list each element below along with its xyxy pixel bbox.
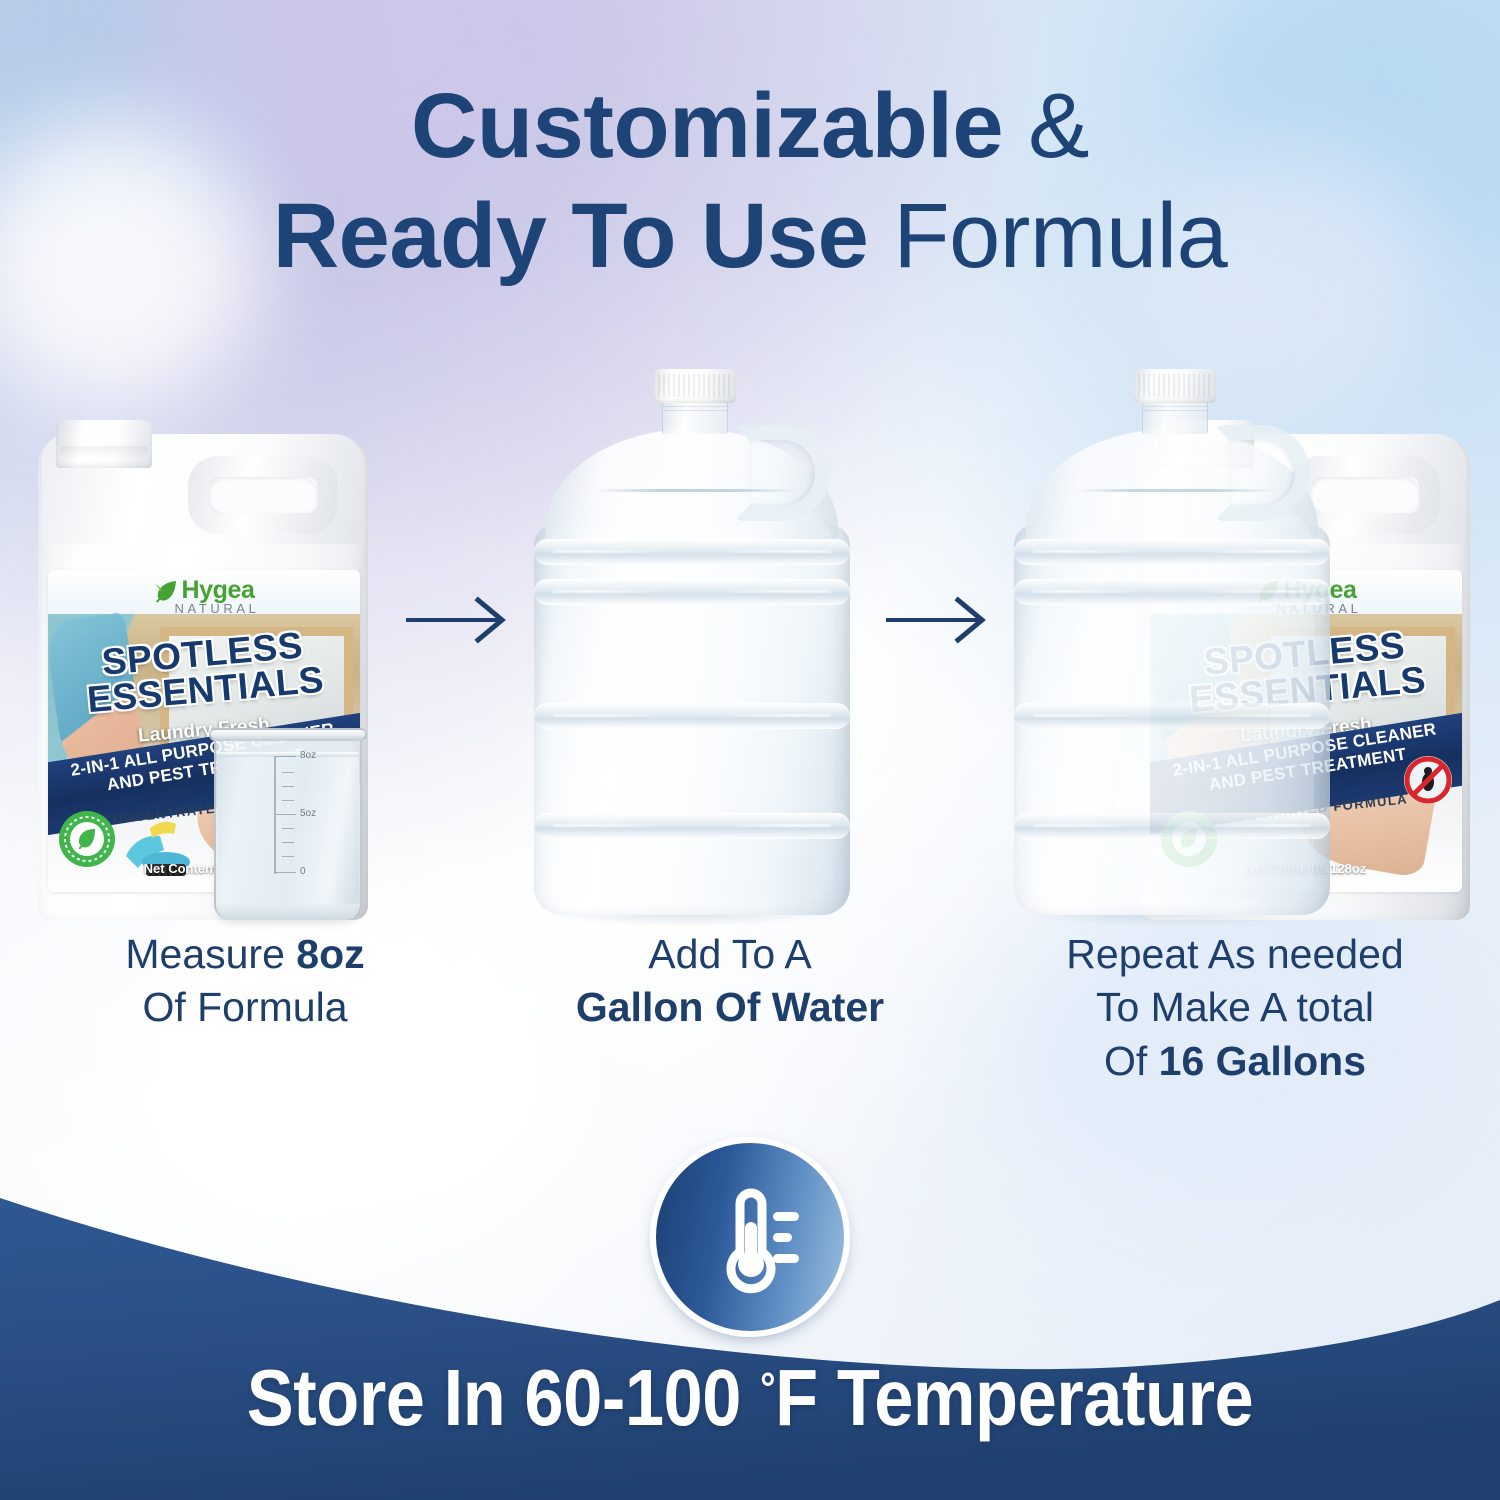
caption3-line2: To Make A total [970,981,1500,1034]
headline-line1-light: & [1003,75,1089,177]
step-captions-row: Measure 8oz Of Formula Add To A Gallon O… [0,928,1500,1088]
product-infographic: Customizable & Ready To Use Formula [0,0,1500,1500]
caption1-line1-strong: 8oz [296,931,364,977]
caption2-line1: Add To A [490,928,970,981]
banner-text-part1: Store In [247,1353,525,1442]
step-repeat-visual: Hygea NATURAL SPOTLESS ESSENTIALS Laundr… [1000,370,1470,930]
banner-text-fahrenheit: F [775,1353,818,1442]
beaker-mark-0: 0 [300,866,306,877]
caption-step-repeat: Repeat As needed To Make A total Of 16 G… [970,928,1500,1088]
jug-rib [1014,579,1330,605]
banner-text: Store In 60-100 °F Temperature [90,1352,1410,1444]
caption1-line1-light: Measure [125,931,296,977]
jug-neck [1142,400,1208,434]
jug-rib [534,579,850,605]
measuring-beaker: 8oz 5oz 0 [214,730,362,920]
caption-step-measure: Measure 8oz Of Formula [0,928,490,1088]
brand-lockup: Hygea NATURAL [48,576,360,616]
caption1-line2: Of Formula [0,981,490,1034]
caption3-line3-strong: 16 Gallons [1159,1038,1366,1084]
headline-line1-strong: Customizable [411,75,1003,177]
banner-text-range: 60-100 [524,1353,760,1442]
thermometer-icon [691,1178,809,1296]
no-bug-icon [1400,752,1456,808]
water-gallon-jug [520,367,860,922]
step-arrow-1 [400,340,520,900]
jug-handle [1214,425,1310,521]
jug-rib [534,703,850,729]
arrow-right-icon [404,598,516,642]
step-measure-visual: Hygea NATURAL SPOTLESS ESSENTIALS Laundr… [30,370,400,930]
step-add-water-visual [520,370,880,930]
caption3-line3-light: Of [1104,1038,1159,1084]
caption3-line1: Repeat As needed [970,928,1500,981]
jug-rib [1014,703,1330,729]
leaf-icon [153,578,179,604]
headline-line2-light: Formula [868,185,1227,287]
headline-line2-strong: Ready To Use [273,185,869,287]
leaf-badge-icon [58,810,116,868]
beaker-mark-5oz: 5oz [300,808,316,819]
water-gallon-jug-secondary [1000,367,1340,922]
beaker-graduations: 8oz 5oz 0 [214,730,362,920]
jug-rib [534,813,850,839]
jug-rib [1014,539,1330,565]
degree-symbol: ° [760,1364,775,1414]
jug-cap [1134,369,1216,403]
step-arrow-2 [880,340,1000,900]
beaker-mark-8oz: 8oz [300,750,316,761]
caption-step-add-water: Add To A Gallon Of Water [490,928,970,1088]
banner-text-part2: Temperature [818,1353,1254,1442]
caption2-line2-strong: Gallon Of Water [576,984,884,1030]
jug-rib [534,539,850,565]
jug-rib [1014,813,1330,839]
bottle-handle-hole [209,477,317,513]
jug-neck [662,400,728,434]
arrow-right-icon [884,598,996,642]
brand-subtitle: NATURAL [74,601,360,616]
page-headline: Customizable & Ready To Use Formula [0,78,1500,285]
bottle-cap [56,420,152,468]
jug-cap [654,369,736,403]
thermometer-badge [650,1137,850,1337]
steps-row: Hygea NATURAL SPOTLESS ESSENTIALS Laundr… [0,350,1500,930]
jug-handle [734,425,830,521]
